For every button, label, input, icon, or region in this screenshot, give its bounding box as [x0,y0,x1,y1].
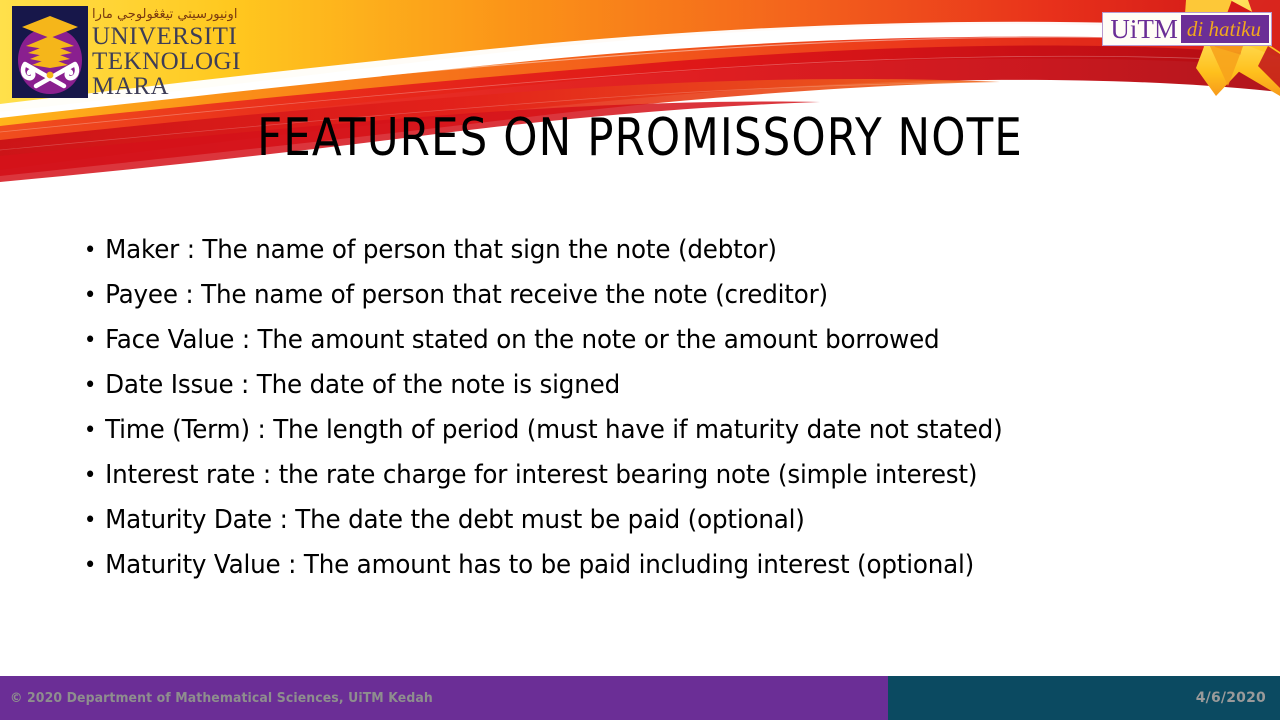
footer-copyright-bar: © 2020 Department of Mathematical Scienc… [0,676,888,720]
list-item-label: Interest rate : the rate charge for inte… [105,460,977,490]
list-item: • Maker : The name of person that sign t… [80,228,1209,273]
list-item-label: Face Value : The amount stated on the no… [105,325,939,355]
university-jawi-script: اونيورسيتي تيڠڠولوجي مارا [92,8,282,24]
footer-copyright-text: © 2020 Department of Mathematical Scienc… [10,691,433,706]
list-item: • Maturity Value : The amount has to be … [80,543,1209,588]
slide-canvas: اونيورسيتي تيڠڠولوجي مارا UNIVERSITI TEK… [0,0,1280,720]
university-name-block: اونيورسيتي تيڠڠولوجي مارا UNIVERSITI TEK… [92,8,282,99]
bullet-icon: • [84,318,96,363]
footer-date-text: 4/6/2020 [1196,690,1266,706]
bullet-icon: • [84,453,96,498]
bullet-icon: • [84,408,96,453]
list-item-label: Payee : The name of person that receive … [105,280,828,310]
uitm-di-hatiku-logo: UiTM di hatiku [1102,12,1272,46]
uitm-emblem-icon [12,6,88,98]
uitm-wordmark: UiTM [1105,15,1181,43]
university-name-line3: MARA [92,74,282,99]
bullet-icon: • [84,228,96,273]
page-title: FEATURES ON PROMISSORY NOTE [101,108,1180,168]
footer-date-bar: 4/6/2020 [888,676,1280,720]
list-item: • Face Value : The amount stated on the … [80,318,1209,363]
list-item-label: Maturity Value : The amount has to be pa… [105,550,974,580]
bullet-icon: • [84,363,96,408]
bullet-icon: • [84,543,96,588]
bullet-icon: • [84,498,96,543]
university-name-line1: UNIVERSITI [92,24,282,49]
list-item: • Date Issue : The date of the note is s… [80,363,1209,408]
list-item: • Interest rate : the rate charge for in… [80,453,1209,498]
list-item: • Time (Term) : The length of period (mu… [80,408,1209,453]
features-bullet-list: • Maker : The name of person that sign t… [80,228,1250,588]
slide-footer: © 2020 Department of Mathematical Scienc… [0,676,1280,720]
list-item: • Payee : The name of person that receiv… [80,273,1209,318]
list-item-label: Time (Term) : The length of period (must… [105,415,1002,445]
uitm-slogan: di hatiku [1181,15,1269,43]
list-item-label: Maker : The name of person that sign the… [105,235,777,265]
list-item-label: Date Issue : The date of the note is sig… [105,370,620,400]
list-item: • Maturity Date : The date the debt must… [80,498,1209,543]
university-name-line2: TEKNOLOGI [92,49,282,74]
list-item-label: Maturity Date : The date the debt must b… [105,505,805,535]
bullet-icon: • [84,273,96,318]
